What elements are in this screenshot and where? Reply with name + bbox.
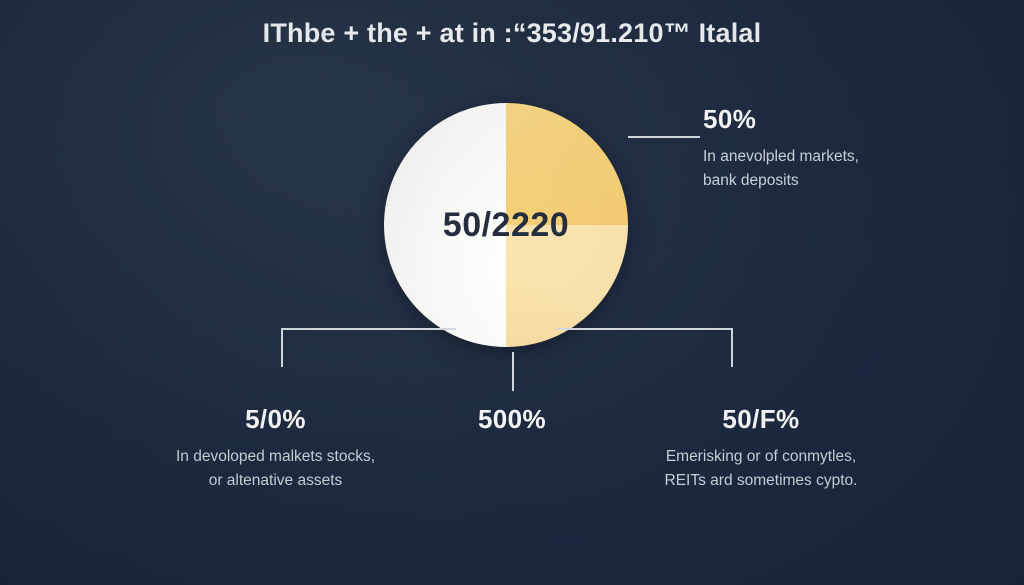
callout-right: 50% In anevolpled markets, bank deposits: [703, 104, 938, 193]
callout-bottom-center: 500%: [427, 404, 597, 445]
pie-chart: 50/2220: [384, 103, 628, 347]
callout-bottom-right-description: Emerisking or of conmytles, REITs ard so…: [616, 445, 906, 493]
bracket-right-vertical: [731, 328, 733, 367]
pie-slice-bank-deposits[interactable]: [506, 103, 628, 225]
callout-bottom-right: 50/F% Emerisking or of conmytles, REITs …: [616, 404, 906, 493]
callout-right-value: 50%: [703, 104, 938, 135]
pie-circle: [384, 103, 628, 347]
bracket-left-vertical: [281, 328, 283, 367]
callout-bottom-right-description-line-1: Emerisking or of conmytles,: [616, 445, 906, 469]
callout-bottom-right-value: 50/F%: [616, 404, 906, 435]
callout-right-description-line-1: In anevolpled markets,: [703, 145, 938, 169]
page-title: IThbe + the + at in :“353/91.210™ Italal: [0, 18, 1024, 49]
callout-bottom-left: 5/0% In devoloped malkets stocks, or alt…: [138, 404, 413, 493]
leader-line-right: [628, 136, 700, 138]
bracket-right-horizontal: [557, 328, 733, 330]
pie-slice-developed-markets[interactable]: [384, 103, 506, 347]
callout-bottom-left-description: In devoloped malkets stocks, or altenati…: [138, 445, 413, 493]
callout-right-description: In anevolpled markets, bank deposits: [703, 145, 938, 193]
infographic-canvas: IThbe + the + at in :“353/91.210™ Italal…: [0, 0, 1024, 585]
callout-bottom-right-description-line-2: REITs ard sometimes cypto.: [616, 469, 906, 493]
callout-bottom-left-description-line-1: In devoloped malkets stocks,: [138, 445, 413, 469]
callout-bottom-left-description-line-2: or altenative assets: [138, 469, 413, 493]
leader-line-center-stem: [512, 352, 514, 391]
bracket-left-horizontal: [281, 328, 456, 330]
callout-bottom-center-value: 500%: [427, 404, 597, 435]
callout-right-description-line-2: bank deposits: [703, 169, 938, 193]
callout-bottom-left-value: 5/0%: [138, 404, 413, 435]
